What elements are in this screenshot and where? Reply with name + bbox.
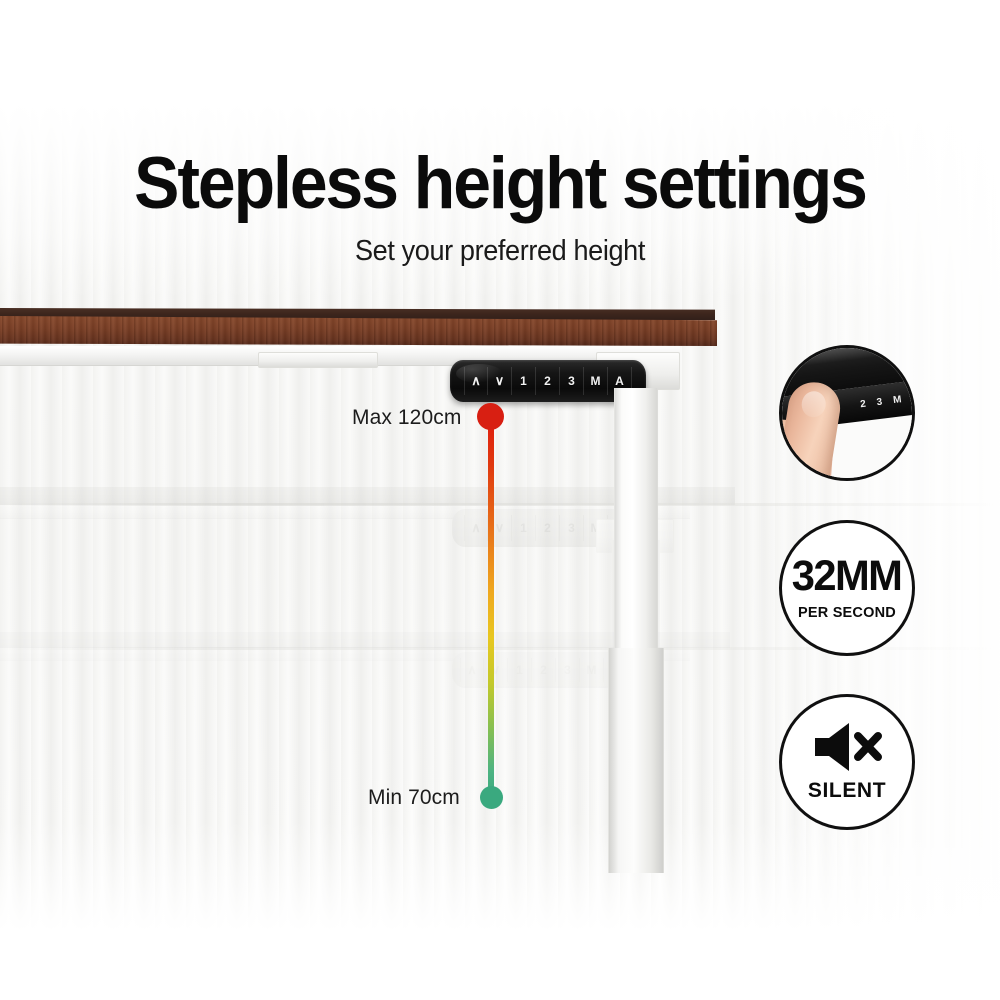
min-height-marker-dot: [480, 786, 503, 809]
height-gradient-bar: [488, 416, 494, 798]
min-height-label: Min 70cm: [368, 786, 460, 810]
height-range-indicator: Max 120cm Min 70cm: [0, 0, 1000, 1000]
speed-unit: PER SECOND: [798, 605, 896, 621]
badge-press-photo: 2 3 M A: [782, 348, 912, 478]
badge-key-m: M: [892, 394, 902, 406]
max-height-marker-dot: [477, 403, 504, 430]
badge-keypad-keys: 2 3 M A: [860, 391, 915, 409]
silent-badge-content: SILENT: [782, 697, 912, 827]
muted-speaker-icon: [812, 721, 882, 773]
finger-press-keypad-photo-badge: 2 3 M A: [779, 345, 915, 481]
speed-badge-content: 32MM PER SECOND: [782, 523, 912, 653]
speed-value: 32MM: [792, 555, 902, 598]
silent-badge: SILENT: [779, 694, 915, 830]
speed-badge: 32MM PER SECOND: [779, 520, 915, 656]
max-height-label: Max 120cm: [352, 406, 461, 430]
silent-label: SILENT: [808, 779, 886, 803]
badge-key-2: 2: [860, 398, 867, 410]
badge-key-3: 3: [876, 396, 883, 408]
